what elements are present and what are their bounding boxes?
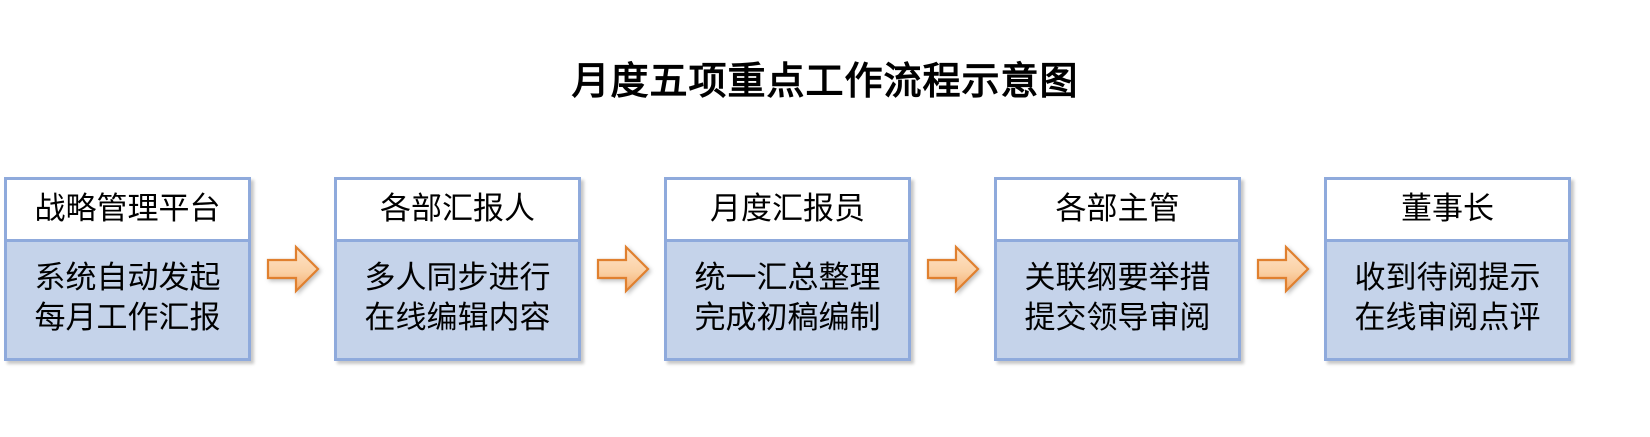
page-title: 月度五项重点工作流程示意图 [0, 58, 1650, 106]
process-step-3-title: 月度汇报员 [710, 194, 865, 225]
process-step-1-body: 系统自动发起 每月工作汇报 [7, 242, 248, 358]
process-step-1-line-1: 系统自动发起 [35, 259, 221, 299]
flow-connector-1 [251, 177, 334, 361]
process-step-5-title: 董事长 [1401, 194, 1494, 225]
process-step-5-body: 收到待阅提示 在线审阅点评 [1327, 242, 1568, 358]
process-step-3-body: 统一汇总整理 完成初稿编制 [667, 242, 908, 358]
right-arrow-icon [926, 244, 980, 294]
process-step-2-body: 多人同步进行 在线编辑内容 [337, 242, 578, 358]
flow-connector-2 [581, 177, 664, 361]
process-step-2-header: 各部汇报人 [337, 180, 578, 242]
process-step-1-line-2: 每月工作汇报 [35, 299, 221, 339]
process-step-4-line-2: 提交领导审阅 [1025, 299, 1211, 339]
process-step-1-title: 战略管理平台 [35, 194, 221, 225]
process-step-2[interactable]: 各部汇报人 多人同步进行 在线编辑内容 [334, 177, 581, 361]
process-step-1[interactable]: 战略管理平台 系统自动发起 每月工作汇报 [4, 177, 251, 361]
process-step-5-line-1: 收到待阅提示 [1355, 259, 1541, 299]
process-step-3-line-2: 完成初稿编制 [695, 299, 881, 339]
right-arrow-icon [1256, 244, 1310, 294]
process-step-4-line-1: 关联纲要举措 [1025, 259, 1211, 299]
right-arrow-icon [266, 244, 320, 294]
process-step-2-line-1: 多人同步进行 [365, 259, 551, 299]
flow-connector-4 [1241, 177, 1324, 361]
process-step-3[interactable]: 月度汇报员 统一汇总整理 完成初稿编制 [664, 177, 911, 361]
process-step-2-line-2: 在线编辑内容 [365, 299, 551, 339]
process-step-2-title: 各部汇报人 [380, 194, 535, 225]
process-step-3-header: 月度汇报员 [667, 180, 908, 242]
process-step-5-line-2: 在线审阅点评 [1355, 299, 1541, 339]
flowchart-diagram: 月度五项重点工作流程示意图 战略管理平台 系统自动发起 每月工作汇报 [0, 0, 1650, 437]
process-step-4-title: 各部主管 [1056, 194, 1180, 225]
process-step-4-header: 各部主管 [997, 180, 1238, 242]
right-arrow-icon [596, 244, 650, 294]
process-step-5[interactable]: 董事长 收到待阅提示 在线审阅点评 [1324, 177, 1571, 361]
process-step-4-body: 关联纲要举措 提交领导审阅 [997, 242, 1238, 358]
process-step-5-header: 董事长 [1327, 180, 1568, 242]
process-step-3-line-1: 统一汇总整理 [695, 259, 881, 299]
flow-connector-3 [911, 177, 994, 361]
process-step-4[interactable]: 各部主管 关联纲要举措 提交领导审阅 [994, 177, 1241, 361]
process-step-1-header: 战略管理平台 [7, 180, 248, 242]
process-flow-row: 战略管理平台 系统自动发起 每月工作汇报 [4, 177, 1646, 361]
